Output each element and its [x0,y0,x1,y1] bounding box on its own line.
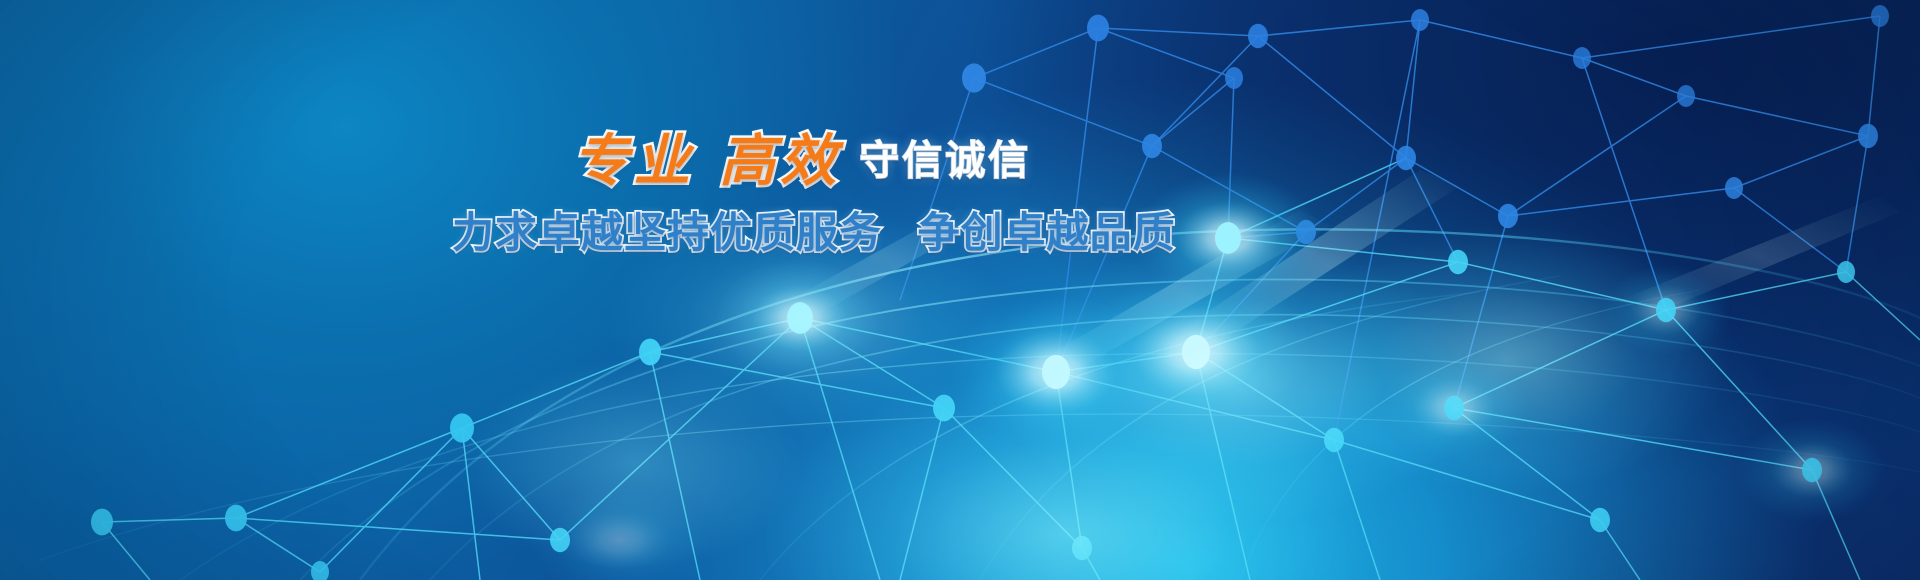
hero-banner: 专业 高效守信诚信 力求卓越坚持优质服务 争创卓越品质 [0,0,1920,580]
slogan-line2-right: 争创卓越品质 [918,208,1176,257]
slogan-line2-left: 力求卓越坚持优质服务 [452,208,882,257]
slogan-brush-text: 专业 高效 [573,128,842,194]
slogan-outline-text: 守信诚信 [859,138,1031,184]
slogan-line2-spacer [882,208,918,257]
headline-line-1: 专业 高效守信诚信 [452,133,1152,197]
vignette-overlay [0,0,1920,580]
headline-block: 专业 高效守信诚信 力求卓越坚持优质服务 争创卓越品质 [452,133,1152,255]
headline-line-2: 力求卓越坚持优质服务 争创卓越品质 [452,211,1152,255]
